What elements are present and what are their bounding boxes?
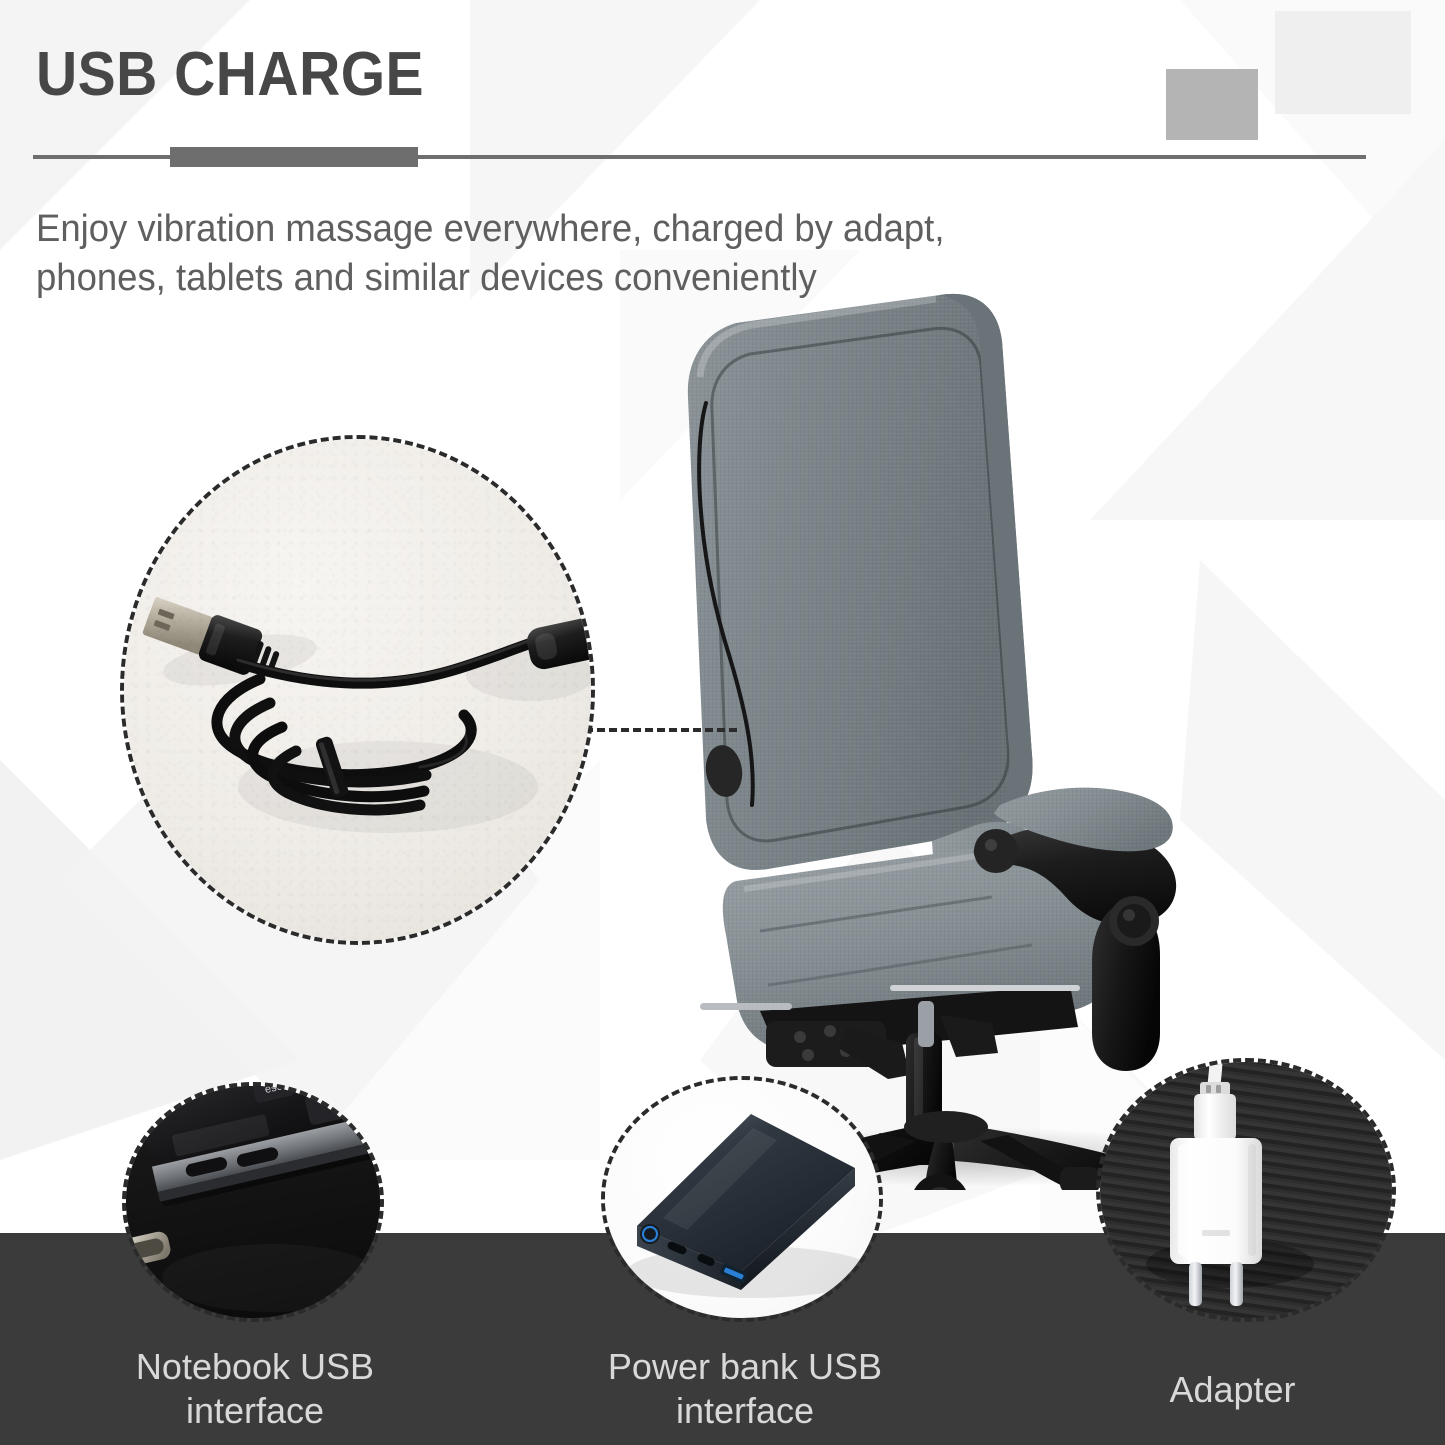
callout-connector-line <box>585 728 737 732</box>
paper-texture <box>120 435 595 945</box>
page-title: USB CHARGE <box>36 44 424 106</box>
title-divider-accent <box>170 147 418 167</box>
callout-adapter <box>1096 1058 1396 1322</box>
deco-rect-gray <box>1166 69 1258 140</box>
caption-notebook-line2: interface <box>60 1389 450 1433</box>
caption-powerbank-line2: interface <box>545 1389 945 1433</box>
caption-adapter: Adapter <box>1060 1368 1405 1412</box>
wall-adapter-icon <box>1096 1058 1396 1322</box>
callout-usb-cable <box>120 435 595 945</box>
caption-powerbank: Power bank USB interface <box>545 1345 945 1433</box>
caption-notebook: Notebook USB interface <box>60 1345 450 1433</box>
power-bank-icon <box>601 1076 883 1322</box>
caption-powerbank-line1: Power bank USB <box>545 1345 945 1389</box>
office-chair-image <box>640 285 1280 1190</box>
caption-notebook-line1: Notebook USB <box>60 1345 450 1389</box>
laptop-usb-port-icon: esc <box>122 1082 384 1322</box>
callout-notebook-usb: esc <box>122 1082 384 1322</box>
deco-rect-light <box>1275 11 1411 114</box>
callout-power-bank <box>601 1076 883 1322</box>
infographic-canvas: USB CHARGE Enjoy vibration massage every… <box>0 0 1445 1445</box>
